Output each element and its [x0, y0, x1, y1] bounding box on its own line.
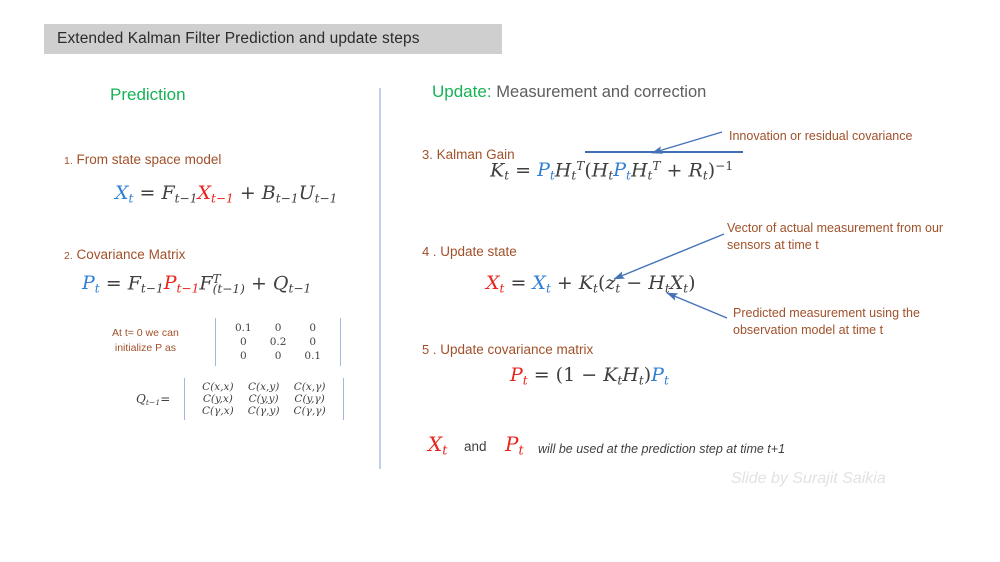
q-cell: C(γ,y): [241, 405, 287, 417]
arrow-innovation: [652, 132, 722, 153]
column-divider: [379, 88, 381, 469]
prediction-step-1-text: From state space model: [77, 152, 222, 167]
update-equation-4: Xt = Xt + Kt(zt − HtXt): [486, 272, 696, 295]
p-cell: 0.1: [226, 321, 261, 335]
update-equation-3: Kt = PtHtT(HtPtHtT + Rt)−1: [490, 159, 733, 183]
q-cell: C(y,γ): [287, 393, 333, 405]
prediction-heading: Prediction: [110, 85, 186, 105]
q-cell: C(y,x): [195, 393, 241, 405]
update-heading-keyword: Update:: [432, 82, 492, 101]
annotation-innovation: Innovation or residual covariance: [729, 128, 912, 145]
update-step-4-label: 4 . Update state: [422, 244, 517, 259]
table-row: C(x,x) C(x,y) C(x,γ): [195, 381, 333, 393]
p-init-note-line1: At t= 0 we can: [112, 326, 179, 341]
table-row: 0.1 0 0: [226, 321, 330, 335]
table-row: 0 0 0.1: [226, 349, 330, 363]
prediction-equation-2: Pt = Ft−1Pt−1FT(t−1) + Qt−1: [82, 272, 311, 296]
update-step-4-text: Update state: [440, 244, 517, 259]
update-step-5-label: 5 . Update covariance matrix: [422, 342, 593, 357]
p-cell: 0: [295, 321, 330, 335]
q-cell: C(x,γ): [287, 381, 333, 393]
q-cell: C(x,y): [241, 381, 287, 393]
update-step-4-number: 4 .: [422, 244, 436, 259]
prediction-step-1-number: 1.: [64, 155, 73, 167]
p-cell: 0: [295, 335, 330, 349]
update-step-3-number: 3.: [422, 147, 433, 162]
q-equals: =: [160, 392, 170, 406]
page-title: Extended Kalman Filter Prediction and up…: [44, 30, 420, 48]
update-heading-rest: Measurement and correction: [496, 83, 706, 101]
p-cell: 0: [226, 349, 261, 363]
p-init-note: At t= 0 we can initialize P as: [112, 326, 179, 356]
q-symbol-sub: t−1: [146, 398, 160, 407]
prediction-step-2-number: 2.: [64, 250, 73, 262]
q-cell: C(γ,γ): [287, 405, 333, 417]
final-note-p: Pt: [505, 432, 524, 459]
p-initial-matrix: 0.1 0 0 0 0.2 0 0 0 0.1: [215, 318, 341, 366]
annotation-measurement-vector: Vector of actual measurement from our se…: [727, 220, 943, 254]
q-symbol: Q: [136, 392, 146, 406]
p-init-note-line2: initialize P as: [112, 341, 179, 356]
final-note-tail: will be used at the prediction step at t…: [538, 442, 785, 456]
slide-title-bar: Extended Kalman Filter Prediction and up…: [44, 24, 502, 54]
update-step-5-number: 5 .: [422, 342, 436, 357]
p-cell: 0: [261, 321, 296, 335]
p-cell: 0.1: [295, 349, 330, 363]
annotation-measurement-vector-line2: sensors at time t: [727, 237, 943, 254]
innovation-overline: [585, 151, 743, 153]
q-cell: C(y,y): [241, 393, 287, 405]
final-note-x: Xt: [428, 432, 447, 459]
prediction-step-1-label: 1. From state space model: [64, 152, 221, 167]
p-cell: 0: [261, 349, 296, 363]
q-covariance-matrix: C(x,x) C(x,y) C(x,γ) C(y,x) C(y,y) C(y,γ…: [184, 378, 344, 420]
update-step-5-text: Update covariance matrix: [440, 342, 593, 357]
update-heading: Update: Measurement and correction: [432, 82, 706, 102]
update-equation-5: Pt = (1 − KtHt)Pt: [510, 364, 669, 387]
table-row: 0 0.2 0: [226, 335, 330, 349]
prediction-step-2-text: Covariance Matrix: [77, 247, 186, 262]
q-cell: C(x,x): [195, 381, 241, 393]
table-row: C(y,x) C(y,y) C(y,γ): [195, 393, 333, 405]
slide-footer-credit: Slide by Surajit Saikia: [731, 470, 886, 488]
prediction-step-2-label: 2. Covariance Matrix: [64, 247, 185, 262]
prediction-equation-1: Xt = Ft−1Xt−1 + Bt−1Ut−1: [115, 182, 337, 205]
q-matrix-label: Qt−1=: [136, 392, 170, 407]
annotation-predicted-measurement: Predicted measurement using the observat…: [733, 305, 920, 339]
final-note-and: and: [464, 439, 487, 454]
p-cell: 0: [226, 335, 261, 349]
annotation-predicted-measurement-line1: Predicted measurement using the: [733, 305, 920, 322]
table-row: C(γ,x) C(γ,y) C(γ,γ): [195, 405, 333, 417]
annotation-predicted-measurement-line2: observation model at time t: [733, 322, 920, 339]
arrow-predicted-measurement: [667, 293, 727, 318]
slide-canvas: Extended Kalman Filter Prediction and up…: [0, 0, 1000, 562]
p-cell: 0.2: [261, 335, 296, 349]
annotation-measurement-vector-line1: Vector of actual measurement from our: [727, 220, 943, 237]
q-cell: C(γ,x): [195, 405, 241, 417]
